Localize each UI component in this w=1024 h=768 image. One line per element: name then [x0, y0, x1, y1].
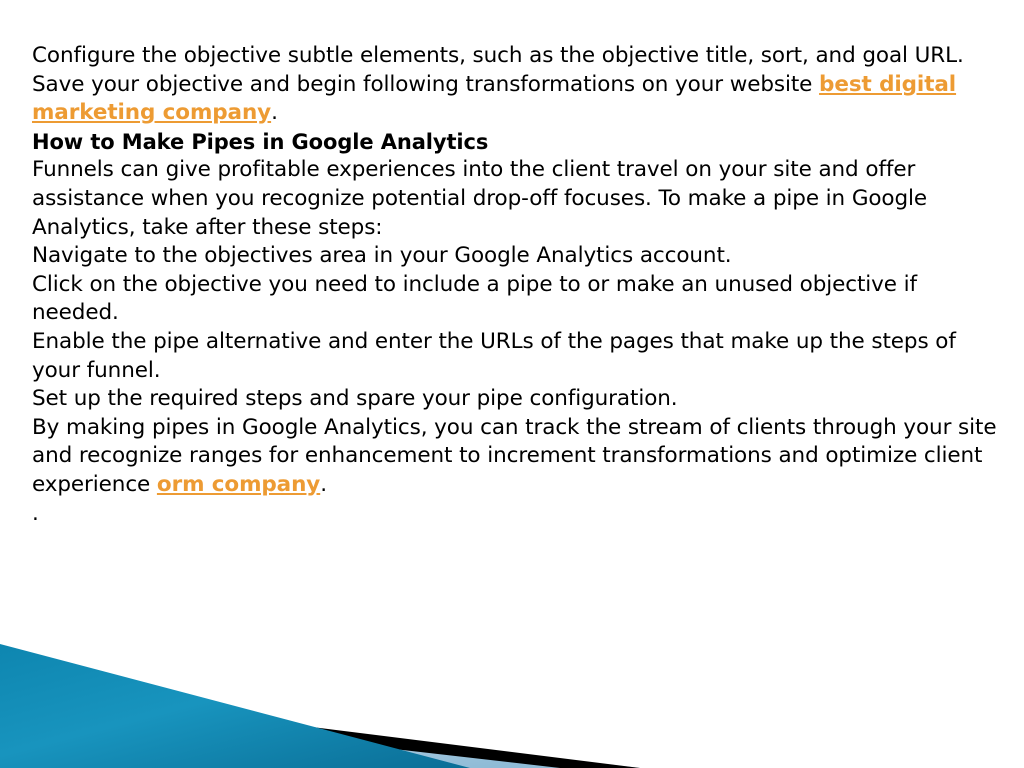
text-run: How to Make Pipes in Google Analytics — [32, 130, 488, 154]
text-run: Save your objective and begin following … — [32, 72, 819, 97]
text-run: Set up the required steps and spare your… — [32, 386, 678, 411]
body-paragraph: Enable the pipe alternative and enter th… — [32, 328, 998, 385]
text-run: Configure the objective subtle elements,… — [32, 43, 964, 68]
body-paragraph: Navigate to the objectives area in your … — [32, 242, 998, 271]
body-paragraph: By making pipes in Google Analytics, you… — [32, 414, 998, 500]
corner-decoration-graphic — [0, 638, 640, 768]
slide-body-text: Configure the objective subtle elements,… — [32, 42, 998, 528]
body-heading: How to Make Pipes in Google Analytics — [32, 128, 998, 157]
text-run: . — [32, 501, 39, 526]
text-run: . — [320, 472, 327, 497]
body-paragraph: Save your objective and begin following … — [32, 71, 998, 128]
body-paragraph: . — [32, 500, 998, 529]
body-paragraph: Configure the objective subtle elements,… — [32, 42, 998, 71]
body-paragraph: Funnels can give profitable experiences … — [32, 156, 998, 242]
text-run: . — [271, 100, 278, 125]
text-run: Navigate to the objectives area in your … — [32, 243, 732, 268]
slide-canvas: Configure the objective subtle elements,… — [0, 0, 1024, 768]
inline-link[interactable]: orm company — [157, 472, 320, 497]
text-run: Funnels can give profitable experiences … — [32, 157, 927, 239]
text-run: Enable the pipe alternative and enter th… — [32, 329, 956, 383]
body-paragraph: Click on the objective you need to inclu… — [32, 271, 998, 328]
text-run: Click on the objective you need to inclu… — [32, 272, 917, 326]
body-paragraph: Set up the required steps and spare your… — [32, 385, 998, 414]
